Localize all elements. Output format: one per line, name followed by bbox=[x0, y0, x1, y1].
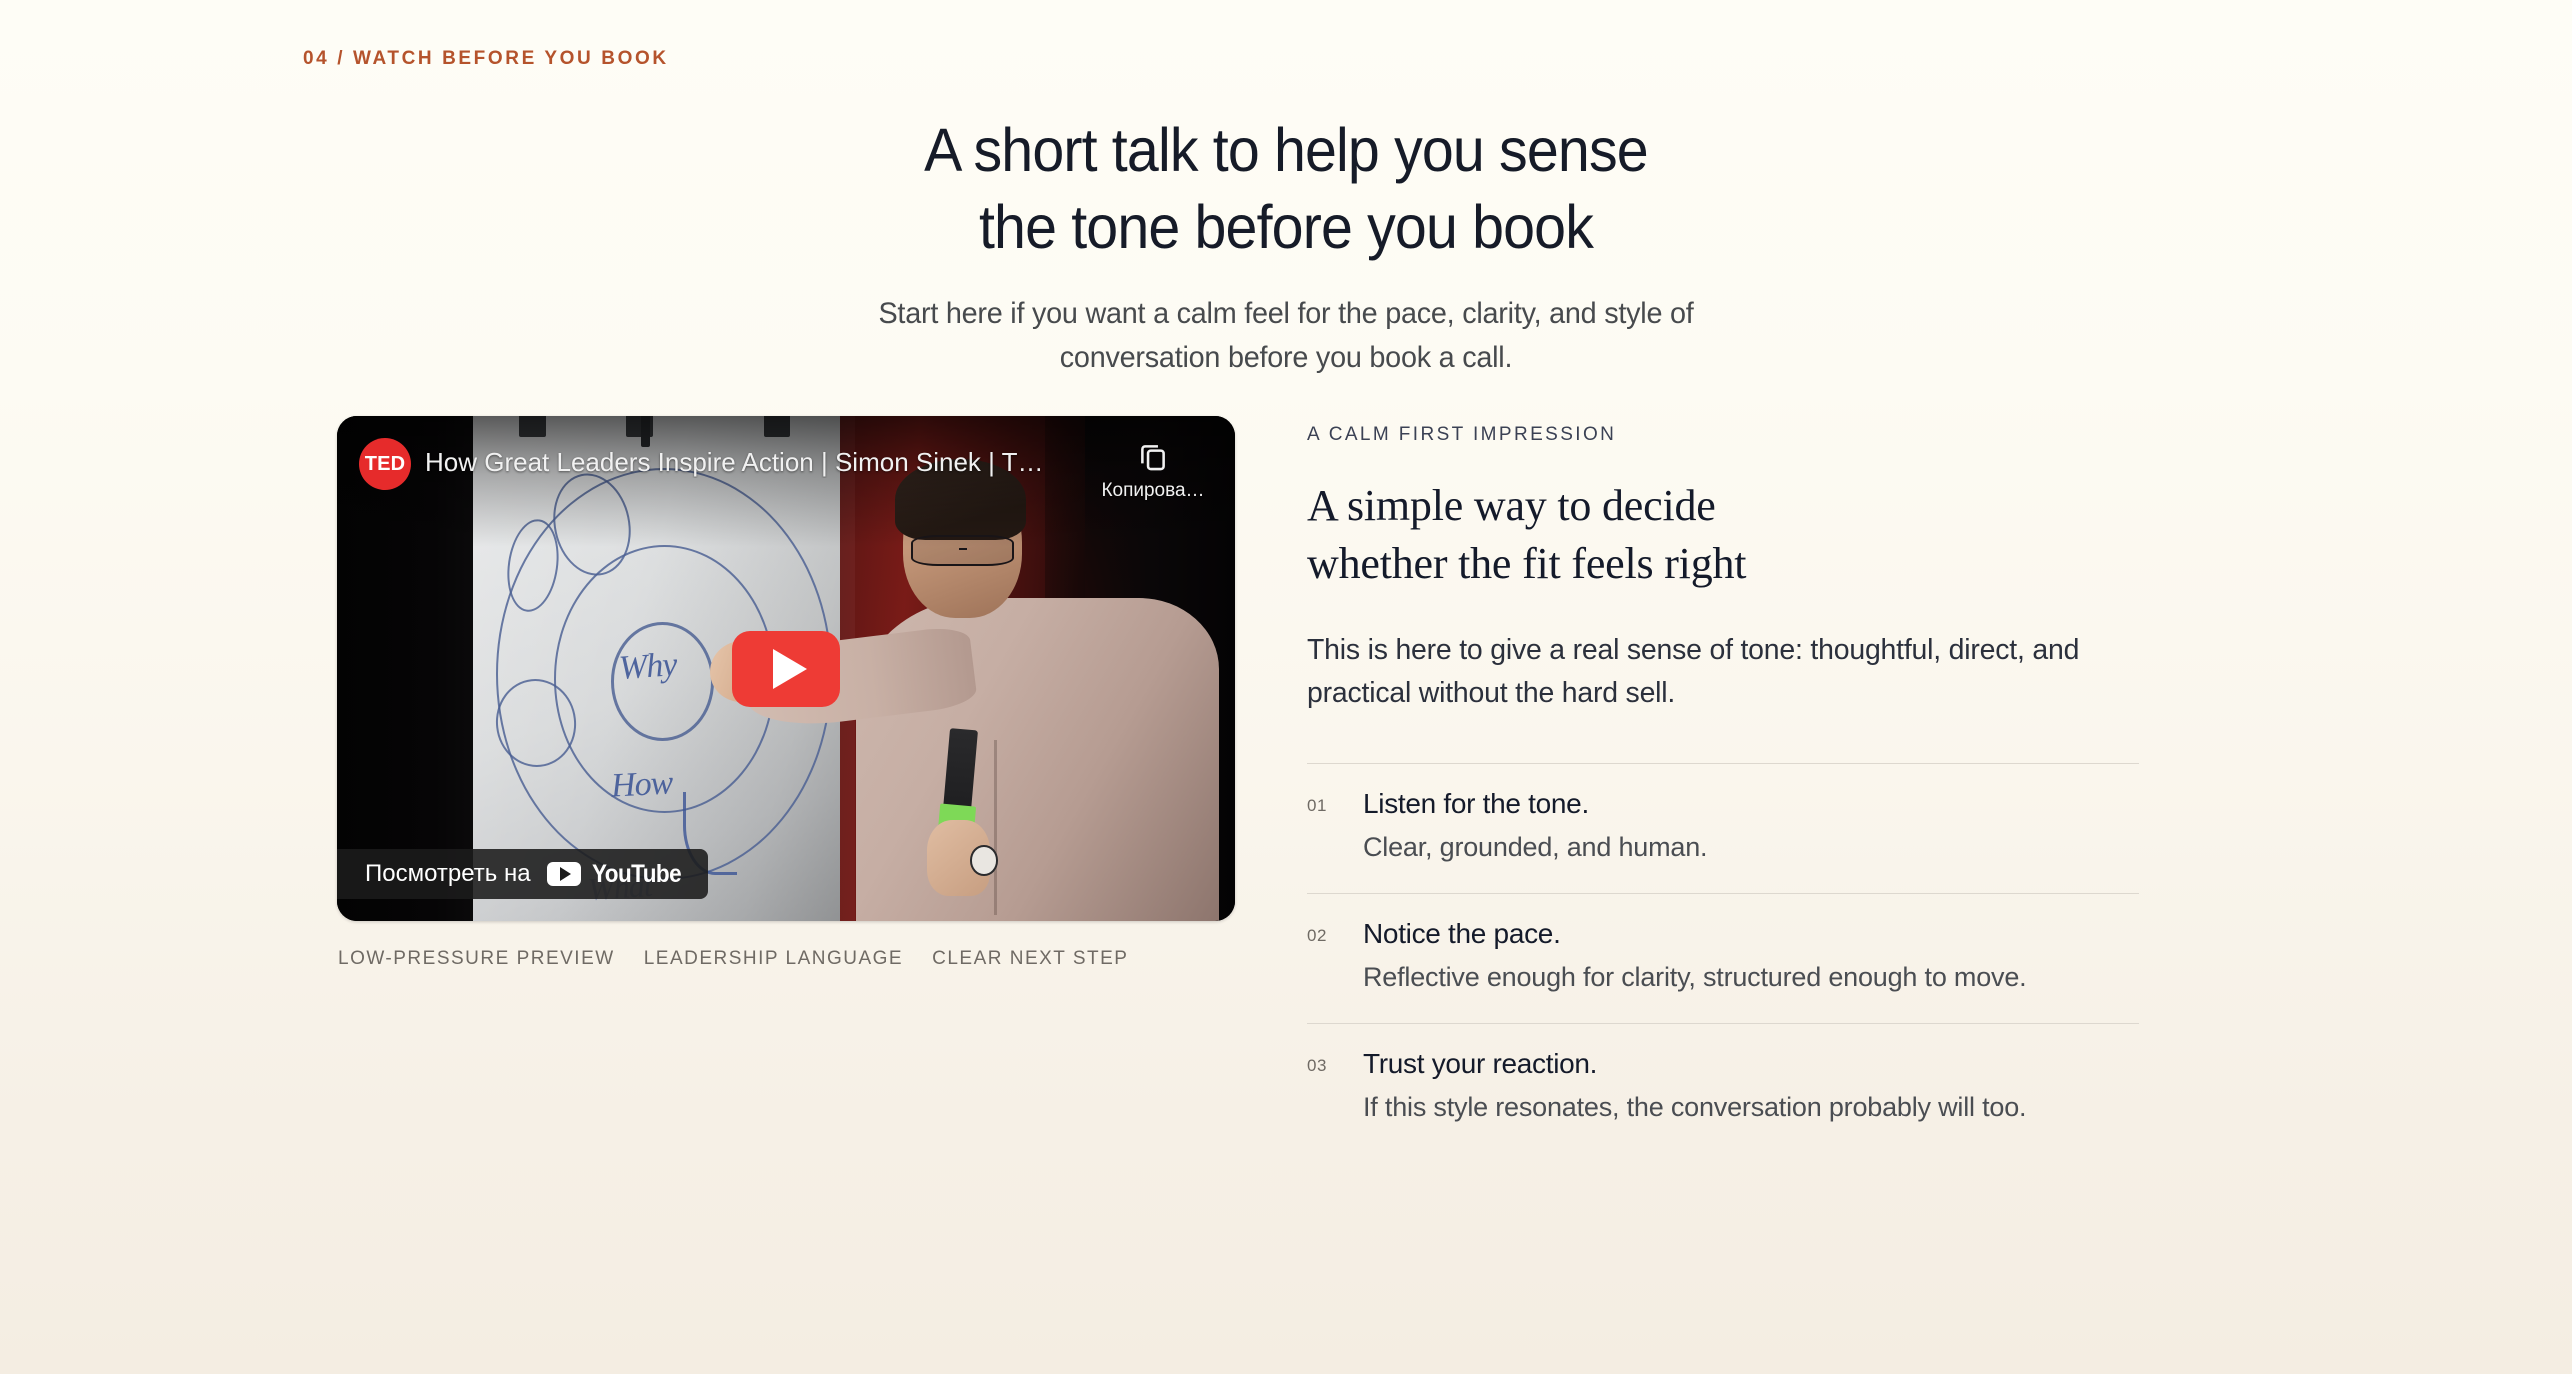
shirt-fold bbox=[994, 740, 997, 915]
step-description: If this style resonates, the conversatio… bbox=[1363, 1088, 2139, 1127]
step-title: Listen for the tone. bbox=[1363, 788, 2139, 820]
step-title: Trust your reaction. bbox=[1363, 1048, 2139, 1080]
info-body-text: This is here to give a real sense of ton… bbox=[1307, 629, 2130, 715]
video-tag: LEADERSHIP LANGUAGE bbox=[644, 948, 903, 970]
step-description: Reflective enough for clarity, structure… bbox=[1363, 958, 2139, 997]
list-item: 01 Listen for the tone. Clear, grounded,… bbox=[1307, 763, 2139, 893]
section-eyebrow: 04 / WATCH BEFORE YOU BOOK bbox=[303, 48, 669, 70]
hero-title-line-2: the tone before you book bbox=[979, 193, 1593, 261]
board-word-how: How bbox=[610, 765, 673, 806]
watch-on-youtube-label: Посмотреть на bbox=[365, 860, 531, 888]
step-number: 03 bbox=[1307, 1048, 1335, 1127]
step-number: 02 bbox=[1307, 918, 1335, 997]
step-number: 01 bbox=[1307, 788, 1335, 867]
info-title: A simple way to decide whether the fit f… bbox=[1307, 477, 2147, 593]
list-item: 02 Notice the pace. Reflective enough fo… bbox=[1307, 893, 2139, 1023]
step-title: Notice the pace. bbox=[1363, 918, 2139, 950]
page-title: A short talk to help you sense the tone … bbox=[77, 112, 2495, 266]
hero-block: A short talk to help you sense the tone … bbox=[0, 112, 2572, 380]
content-columns: Why How What bbox=[0, 416, 2572, 1316]
video-title[interactable]: How Great Leaders Inspire Action | Simon… bbox=[425, 447, 1050, 478]
play-button[interactable] bbox=[732, 631, 840, 707]
play-icon bbox=[773, 649, 807, 689]
video-column: Why How What bbox=[337, 416, 1235, 970]
video-tag: LOW-PRESSURE PREVIEW bbox=[338, 948, 615, 970]
watch-on-youtube-button[interactable]: Посмотреть на YouTube bbox=[337, 849, 708, 899]
copy-link-label: Копирова… bbox=[1101, 480, 1204, 502]
step-content: Listen for the tone. Clear, grounded, an… bbox=[1363, 788, 2139, 867]
board-word-why: Why bbox=[617, 646, 677, 688]
youtube-wordmark-text: YouTube bbox=[592, 860, 681, 889]
youtube-play-icon bbox=[547, 862, 581, 886]
ted-logo: TED bbox=[359, 438, 411, 490]
copy-icon bbox=[1136, 440, 1170, 474]
list-item: 03 Trust your reaction. If this style re… bbox=[1307, 1023, 2139, 1133]
info-column: A CALM FIRST IMPRESSION A simple way to … bbox=[1307, 424, 2147, 1133]
hero-title-line-1: A short talk to help you sense bbox=[924, 116, 1648, 184]
info-title-line-2: whether the fit feels right bbox=[1307, 539, 1746, 588]
steps-list: 01 Listen for the tone. Clear, grounded,… bbox=[1307, 763, 2147, 1133]
hero-subtitle: Start here if you want a calm feel for t… bbox=[825, 292, 1747, 380]
page-root: 04 / WATCH BEFORE YOU BOOK A short talk … bbox=[0, 0, 2572, 1374]
youtube-embed-card[interactable]: Why How What bbox=[337, 416, 1235, 921]
info-kicker: A CALM FIRST IMPRESSION bbox=[1307, 424, 2147, 446]
step-content: Notice the pace. Reflective enough for c… bbox=[1363, 918, 2139, 997]
video-tag: CLEAR NEXT STEP bbox=[932, 948, 1128, 970]
info-title-line-1: A simple way to decide bbox=[1307, 481, 1716, 530]
step-content: Trust your reaction. If this style reson… bbox=[1363, 1048, 2139, 1127]
youtube-logo: YouTube bbox=[547, 860, 686, 889]
copy-link-button[interactable]: Копирова… bbox=[1097, 440, 1209, 502]
step-description: Clear, grounded, and human. bbox=[1363, 828, 2139, 867]
wristwatch bbox=[970, 845, 998, 875]
video-tag-row: LOW-PRESSURE PREVIEW LEADERSHIP LANGUAGE… bbox=[337, 948, 1235, 970]
